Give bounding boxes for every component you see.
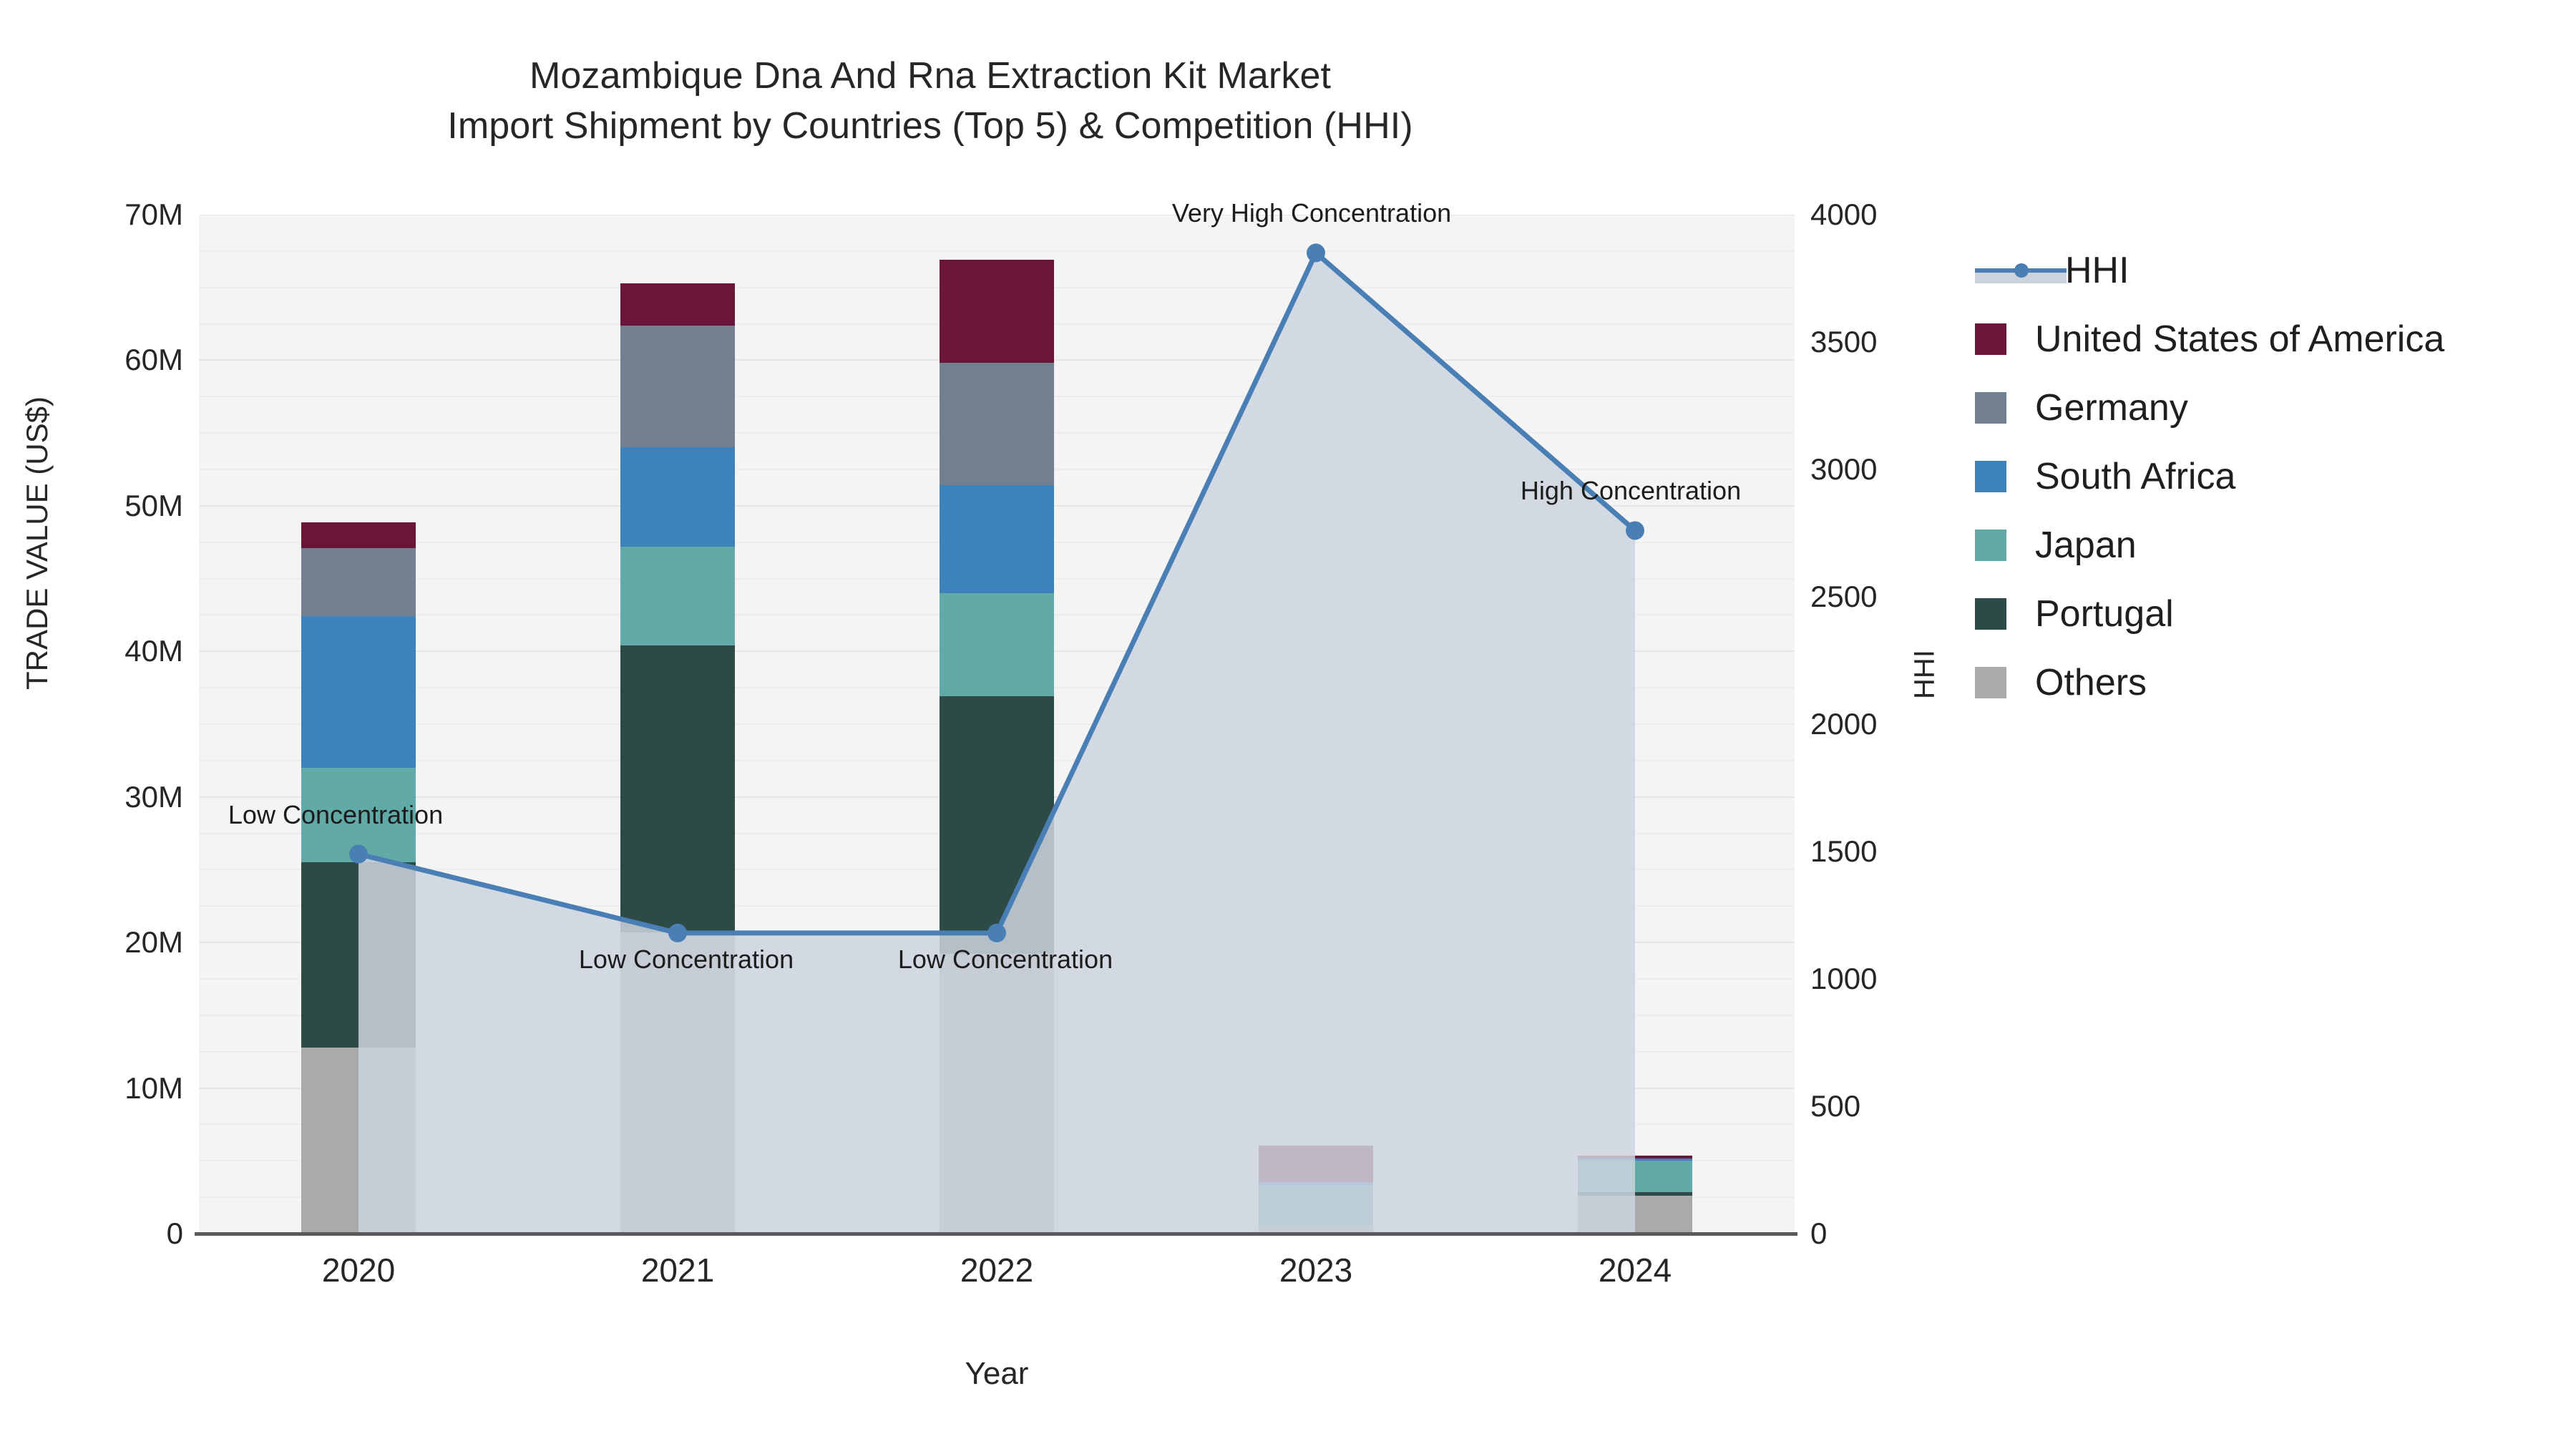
y-axis-left-tick: 30M [125,780,183,814]
hhi-annotation-2023: Very High Concentration [1172,198,1451,228]
y-axis-left-tick: 20M [125,925,183,960]
x-axis-label: Year [199,1356,1795,1392]
y-axis-right-tick: 0 [1810,1216,1827,1251]
x-axis-tick-2021: 2021 [641,1251,714,1289]
x-axis: 20202021202220232024 [199,1246,1795,1311]
legend-item[interactable]: HHI [1975,236,2562,305]
y-axis-left-label: TRADE VALUE (US$) [20,343,54,743]
y-axis-left-tick: 10M [125,1071,183,1106]
hhi-annotation-2021: Low Concentration [579,945,794,975]
legend-item-label: United States of America [2035,321,2444,358]
y-axis-left-tick: 0 [167,1216,183,1251]
y-axis-left-tick: 50M [125,489,183,523]
hhi-annotation-2022: Low Concentration [898,945,1113,975]
x-axis-line [195,1232,1797,1236]
hhi-point-2021[interactable] [668,924,687,942]
x-axis-tick-2023: 2023 [1279,1251,1352,1289]
y-axis-right-tick: 3000 [1810,452,1877,487]
y-axis-right-tick: 1500 [1810,834,1877,869]
hhi-point-2024[interactable] [1626,521,1644,540]
y-axis-right-tick: 4000 [1810,197,1877,232]
legend-item-label: Portugal [2035,595,2174,633]
y-axis-right-label: HHI [1909,582,1941,768]
hhi-line-swatch-icon [1975,255,2067,286]
y-axis-right-tick: 2000 [1810,707,1877,741]
hhi-point-2020[interactable] [349,845,368,864]
legend-item[interactable]: Portugal [1975,580,2562,648]
hhi-line-series [199,215,1795,1234]
y-axis-left-tick: 40M [125,634,183,668]
title-line-2: Import Shipment by Countries (Top 5) & C… [0,106,1860,146]
color-swatch-icon [1975,530,2006,561]
y-axis-right-tick: 500 [1810,1089,1860,1123]
hhi-annotation-2024: High Concentration [1521,476,1741,506]
legend-item-label: South Africa [2035,458,2235,495]
legend-item-label: HHI [2065,252,2129,289]
chart-title: Mozambique Dna And Rna Extraction Kit Ma… [0,56,1860,146]
legend-item[interactable]: Japan [1975,511,2562,580]
title-line-1: Mozambique Dna And Rna Extraction Kit Ma… [0,56,1860,96]
legend-item[interactable]: Germany [1975,374,2562,442]
y-axis-right: 05001000150020002500300035004000 [1809,0,1981,1449]
legend-item-label: Japan [2035,527,2137,564]
color-swatch-icon [1975,598,2006,630]
legend-item[interactable]: South Africa [1975,442,2562,511]
hhi-annotation-2020: Low Concentration [228,800,443,830]
y-axis-right-tick: 2500 [1810,580,1877,614]
x-axis-tick-2022: 2022 [960,1251,1033,1289]
legend-item-label: Germany [2035,389,2188,426]
color-swatch-icon [1975,667,2006,698]
legend-item-label: Others [2035,664,2147,701]
plot-area [199,215,1795,1234]
hhi-point-2022[interactable] [987,924,1006,942]
chart-figure: Mozambique Dna And Rna Extraction Kit Ma… [0,0,2576,1449]
chart-legend: HHIUnited States of AmericaGermanySouth … [1975,236,2562,717]
y-axis-right-tick: 3500 [1810,325,1877,359]
hhi-area-fill [358,253,1635,1234]
legend-item[interactable]: United States of America [1975,305,2562,374]
x-axis-tick-2024: 2024 [1599,1251,1672,1289]
y-axis-left-tick: 70M [125,197,183,232]
color-swatch-icon [1975,392,2006,424]
legend-item[interactable]: Others [1975,648,2562,717]
color-swatch-icon [1975,461,2006,492]
hhi-point-2023[interactable] [1307,243,1325,262]
color-swatch-icon [1975,323,2006,355]
x-axis-tick-2020: 2020 [322,1251,395,1289]
y-axis-right-tick: 1000 [1810,962,1877,996]
y-axis-left-tick: 60M [125,343,183,377]
